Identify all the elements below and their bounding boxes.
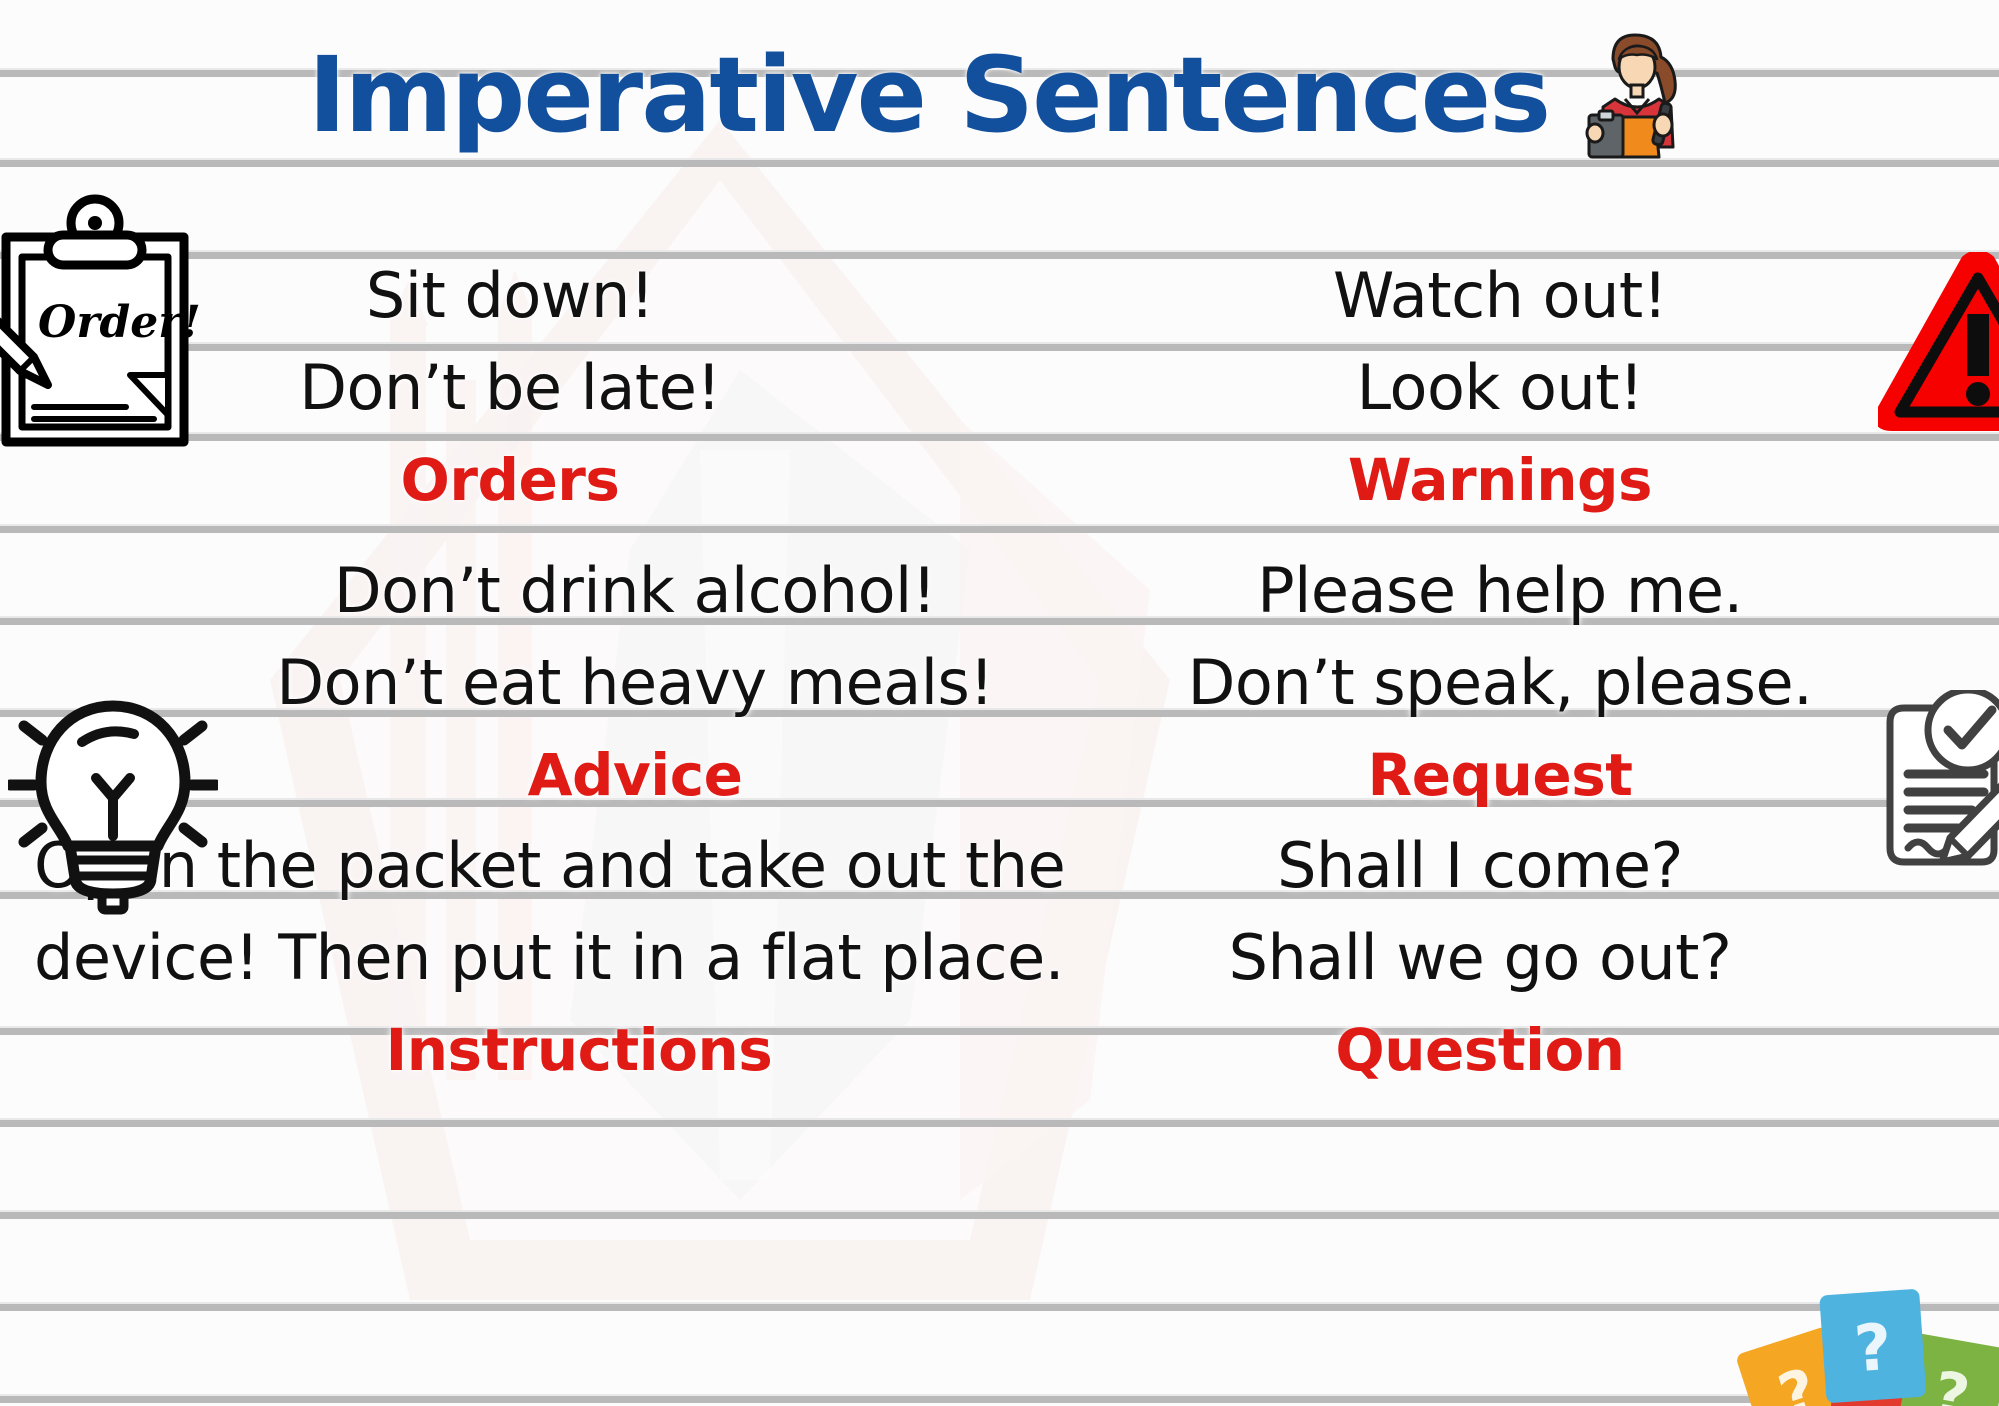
block-question: Shall I come? Shall we go out? Question [1180,820,1780,1096]
page-title: Imperative Sentences [308,43,1549,147]
category-label-warnings: Warnings [1230,434,1770,526]
sentence-orders-1: Sit down! [250,250,770,342]
clipboard-order-icon: Order! [0,185,228,450]
sentence-request-1: Please help me. [1130,545,1870,637]
signed-checklist-icon [1862,690,1999,875]
sentence-request-2: Don’t speak, please. [1130,637,1870,729]
block-request: Please help me. Don’t speak, please. Req… [1130,545,1870,821]
imperative-sentences-poster: Imperative Sentences [0,0,1999,1406]
sentence-orders-2: Don’t be late! [250,342,770,434]
category-label-instructions: Instructions [34,1004,1124,1096]
sentence-warnings-2: Look out! [1230,342,1770,434]
category-label-orders: Orders [250,434,770,526]
block-orders: Sit down! Don’t be late! Orders [250,250,770,526]
block-warnings: Watch out! Look out! Warnings [1230,250,1770,526]
sentence-advice-1: Don’t drink alcohol! [240,545,1030,637]
sentence-question-1: Shall I come? [1180,820,1780,912]
sentence-question-2: Shall we go out? [1180,912,1780,1004]
svg-text:?: ? [1852,1311,1894,1387]
sentence-warnings-1: Watch out! [1230,250,1770,342]
category-label-request: Request [1130,729,1870,821]
sentence-advice-2: Don’t eat heavy meals! [240,637,1030,729]
teacher-with-clipboard-icon [1583,29,1691,161]
sentence-instructions-2: device! Then put it in a flat place. [34,912,1124,1004]
block-advice: Don’t drink alcohol! Don’t eat heavy mea… [240,545,1030,821]
category-label-question: Question [1180,1004,1780,1096]
question-cards-icon: ? ? ? [1735,1282,1999,1406]
warning-triangle-icon [1878,252,1999,432]
category-label-advice: Advice [240,729,1030,821]
svg-text:Order!: Order! [38,297,201,348]
lightbulb-icon [8,690,218,920]
page-title-band: Imperative Sentences [0,20,1999,170]
